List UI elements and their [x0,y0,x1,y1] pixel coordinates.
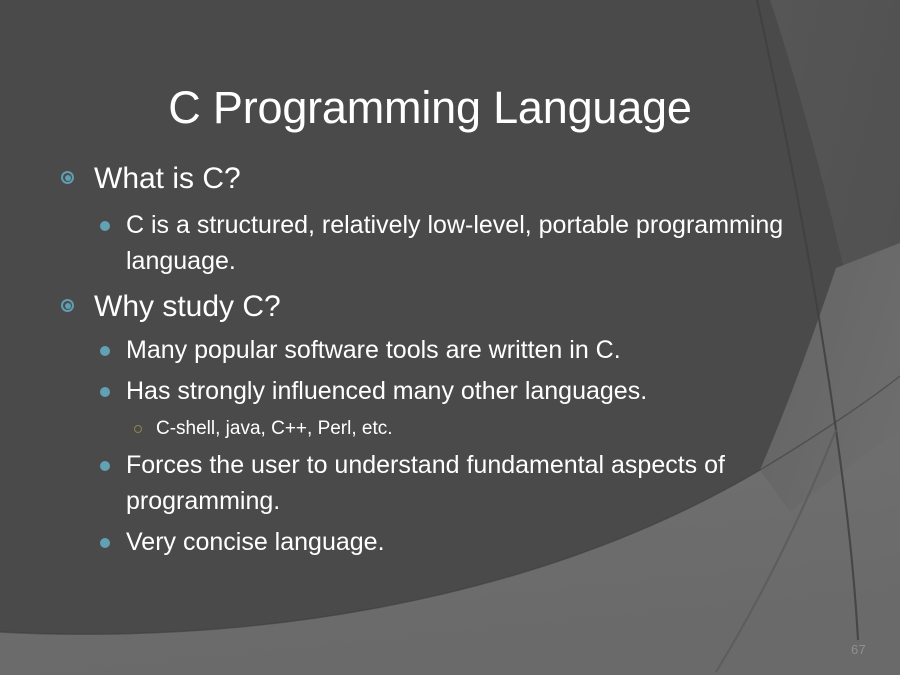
bullet-list: What is C? C is a structured, relatively… [52,158,842,560]
page-number: 67 [851,642,866,657]
dot-bullet-icon [100,461,110,471]
list-item: Has strongly influenced many other langu… [52,373,842,409]
hollow-circle-bullet-icon [134,425,142,433]
list-item: C is a structured, relatively low-level,… [52,207,842,279]
list-item: Why study C? [52,286,842,327]
ring-dot-bullet-icon [61,171,74,184]
list-item-label: Very concise language. [126,528,385,556]
list-item-label: Has strongly influenced many other langu… [126,377,647,405]
list-item-label: Many popular software tools are written … [126,336,621,364]
list-item: Very concise language. [52,524,842,560]
list-item: C-shell, java, C++, Perl, etc. [52,414,842,443]
page-title: C Programming Language [60,82,800,134]
dot-bullet-icon [100,221,110,231]
slide-canvas: C Programming Language What is C? C is a… [0,0,900,675]
spacer [52,200,842,207]
title-block: C Programming Language [60,82,800,134]
list-item-label: Forces the user to understand fundamenta… [126,451,725,515]
list-item-label: Why study C? [94,290,281,323]
dot-bullet-icon [100,538,110,548]
dot-bullet-icon [100,346,110,356]
list-item-label: What is C? [94,162,241,195]
list-item: Forces the user to understand fundamenta… [52,447,842,519]
list-item-label: C-shell, java, C++, Perl, etc. [156,418,393,439]
list-item: What is C? [52,158,842,199]
dot-bullet-icon [100,387,110,397]
list-item: Many popular software tools are written … [52,332,842,368]
ring-dot-bullet-icon [61,299,74,312]
list-item-label: C is a structured, relatively low-level,… [126,211,783,275]
content-body: What is C? C is a structured, relatively… [52,158,842,561]
